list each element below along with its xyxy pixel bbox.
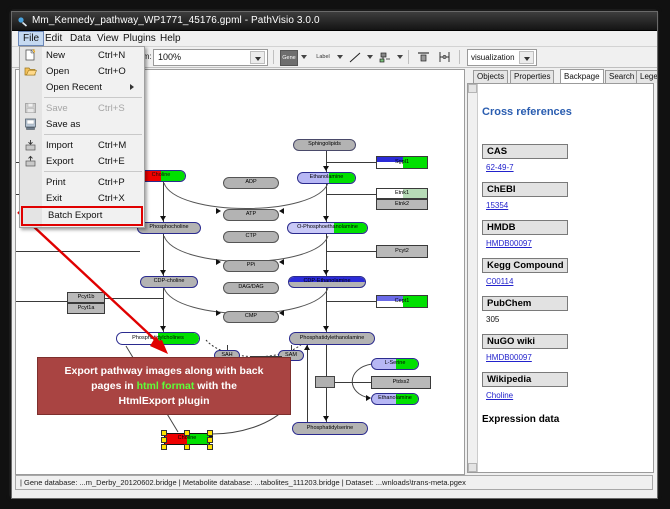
menu-label: Save: [46, 103, 68, 114]
pathway-node[interactable]: L-Serine: [371, 358, 419, 370]
pathway-node[interactable]: CTP: [223, 231, 279, 243]
pathway-node[interactable]: CMP: [223, 311, 279, 323]
edge: [326, 194, 376, 195]
menu-item-save: Save Ctrl+S: [20, 100, 144, 116]
toolbar-separator: [273, 50, 274, 64]
arrow-icon: [216, 208, 221, 214]
pathway-node[interactable]: ATP: [223, 209, 279, 221]
menu-item-open[interactable]: Open Ctrl+O: [20, 63, 144, 79]
folder-open-icon: [24, 65, 37, 77]
receptor-tool[interactable]: [378, 50, 393, 64]
align-top-icon[interactable]: [416, 50, 431, 64]
arrow-icon: [216, 310, 221, 316]
selection-handle[interactable]: [184, 444, 190, 450]
callout-highlight: html format: [137, 380, 195, 392]
gene-node[interactable]: Cept1: [376, 295, 428, 308]
menu-item-save-as[interactable]: Save as: [20, 116, 144, 132]
chevron-right-icon: [130, 84, 134, 90]
pathway-node[interactable]: PPi: [223, 260, 279, 272]
menu-shortcut: Ctrl+S: [98, 103, 125, 114]
edge: [326, 251, 376, 252]
tab-legend[interactable]: Legend: [636, 70, 658, 83]
label-tool[interactable]: Label: [312, 50, 334, 64]
pathway-node[interactable]: CDP-Ethanolamine: [288, 276, 366, 288]
edge: [326, 301, 376, 302]
selection-handle[interactable]: [207, 444, 213, 450]
selection-handle[interactable]: [207, 437, 213, 443]
file-menu-popup[interactable]: New Ctrl+N Open Ctrl+O Open Recent: [19, 46, 145, 228]
menu-item-export[interactable]: Export Ctrl+E: [20, 153, 144, 169]
pathway-node[interactable]: ADP: [223, 177, 279, 189]
gene-node[interactable]: Ptdss2: [371, 376, 431, 389]
tab-search[interactable]: Search: [605, 70, 638, 83]
menu-help[interactable]: Help: [156, 32, 185, 45]
menu-item-new[interactable]: New Ctrl+N: [20, 47, 144, 63]
annotation-text: Export pathway images along with back pa…: [59, 364, 270, 409]
arrow-icon: [216, 259, 221, 265]
chevron-down-icon[interactable]: [301, 55, 307, 59]
scroll-up-button[interactable]: [468, 84, 477, 93]
menu-item-import[interactable]: Import Ctrl+M: [20, 137, 144, 153]
tab-backpage[interactable]: Backpage: [560, 69, 604, 83]
xref-value-cas[interactable]: 62-49-7: [486, 163, 514, 172]
toolbar-separator: [459, 50, 460, 64]
save-disk-icon: [24, 102, 37, 114]
window-title: Mm_Kennedy_pathway_WP1771_45176.gpml - P…: [32, 15, 320, 26]
save-as-icon: [24, 118, 37, 130]
menu-label: Batch Export: [48, 210, 102, 221]
menu-bar: File Edit Data View Plugins Help: [12, 31, 657, 47]
xref-value-hmdb[interactable]: HMDB00097: [486, 239, 532, 248]
menu-label: Open: [46, 66, 69, 77]
menu-data[interactable]: Data: [66, 32, 95, 45]
callout-line2-b: with the: [194, 380, 237, 392]
edge: [326, 162, 376, 163]
arrow-icon: [279, 208, 284, 214]
xref-header-pubchem: PubChem: [482, 296, 568, 311]
scroll-down-button[interactable]: [468, 463, 477, 472]
xref-header-chebi: ChEBI: [482, 182, 568, 197]
zoom-combobox[interactable]: 100%: [153, 49, 268, 66]
edge: [334, 382, 371, 383]
menu-label: Open Recent: [46, 82, 102, 93]
selection-handle[interactable]: [161, 437, 167, 443]
new-document-icon: [24, 49, 37, 61]
chevron-down-icon[interactable]: [367, 55, 373, 59]
menu-label: Export: [46, 156, 73, 167]
pathway-node[interactable]: Phosphatidylserine: [292, 422, 368, 435]
zoom-value: 100%: [158, 52, 181, 62]
line-tool[interactable]: [348, 50, 363, 64]
arrow-icon: [323, 416, 329, 421]
chevron-down-icon: [524, 57, 530, 61]
selection-handle[interactable]: [161, 430, 167, 436]
menu-item-print[interactable]: Print Ctrl+P: [20, 174, 144, 190]
menu-shortcut: Ctrl+P: [98, 177, 125, 188]
menu-item-exit[interactable]: Exit Ctrl+X: [20, 190, 144, 206]
visualization-dropdown-button[interactable]: [519, 51, 534, 64]
gene-node[interactable]: Sgpl1: [376, 156, 428, 169]
menu-item-batch-export[interactable]: Batch Export: [21, 206, 143, 226]
menu-shortcut: Ctrl+E: [98, 156, 125, 167]
expression-data-heading: Expression data: [482, 414, 559, 425]
gene-node[interactable]: Etnk1: [376, 188, 428, 199]
annotation-callout: Export pathway images along with back pa…: [37, 357, 291, 415]
cross-references-title: Cross references: [482, 106, 572, 118]
menu-label: Exit: [46, 193, 62, 204]
pathvisio-window: Mm_Kennedy_pathway_WP1771_45176.gpml - P…: [11, 11, 658, 499]
annotation-arrow: [16, 210, 196, 370]
menu-edit[interactable]: Edit: [41, 32, 66, 45]
visualization-combobox[interactable]: visualization: [467, 49, 537, 66]
xref-value-kegg[interactable]: C00114: [486, 277, 513, 286]
menu-label: New: [46, 50, 65, 61]
chevron-down-icon[interactable]: [397, 55, 403, 59]
xref-value-pubchem: 305: [486, 315, 499, 324]
export-icon: [24, 155, 37, 167]
pathway-node[interactable]: DAG/DAG: [223, 282, 279, 294]
pathway-node[interactable]: O-Phosphoethanolamine: [287, 222, 368, 234]
menu-item-open-recent[interactable]: Open Recent: [20, 79, 144, 95]
menu-shortcut: Ctrl+O: [98, 66, 126, 77]
selection-handle[interactable]: [184, 430, 190, 436]
pathway-node[interactable]: Phosphatidylethanolamine: [289, 332, 375, 345]
status-text: | Gene database: ...m_Derby_20120602.bri…: [20, 478, 466, 487]
backpage-content: Cross references CAS 62-49-7 ChEBI 15354…: [467, 83, 654, 473]
xref-header-kegg: Kegg Compound: [482, 258, 568, 273]
arrow-icon: [323, 166, 329, 171]
selection-handle[interactable]: [161, 444, 167, 450]
gene-node[interactable]: Pcyt2: [376, 245, 428, 258]
pathvisio-icon: [17, 16, 28, 27]
chevron-down-icon: [255, 57, 261, 61]
zoom-dropdown-button[interactable]: [250, 51, 265, 64]
menu-plugins[interactable]: Plugins: [119, 32, 160, 45]
pathway-node[interactable]: Sphingolipids: [293, 139, 356, 151]
xref-value-nugo[interactable]: HMDB00097: [486, 353, 532, 362]
menu-separator: [44, 97, 142, 98]
toolbar-separator: [408, 50, 409, 64]
menu-label: Import: [46, 140, 73, 151]
callout-line3: HtmlExport plugin: [119, 395, 210, 407]
menu-separator: [44, 171, 142, 172]
import-icon: [24, 139, 37, 151]
menu-label: Print: [46, 177, 66, 188]
status-bar: | Gene database: ...m_Derby_20120602.bri…: [15, 475, 653, 490]
xref-header-nugo: NuGO wiki: [482, 334, 568, 349]
menu-separator: [44, 134, 142, 135]
backpage-scrollbar[interactable]: [468, 84, 478, 472]
gene-product-tool[interactable]: Gene: [280, 50, 298, 66]
menu-shortcut: Ctrl+X: [98, 193, 125, 204]
visualization-value: visualization: [471, 53, 515, 62]
callout-line2-a: pages in: [91, 380, 137, 392]
menu-shortcut: Ctrl+M: [98, 140, 126, 151]
menu-shortcut: Ctrl+N: [98, 50, 125, 61]
panel-tabs: Objects Properties Backpage Search Legen…: [467, 69, 654, 83]
arrow-icon: [279, 310, 284, 316]
arrow-icon: [279, 259, 284, 265]
callout-line1: Export pathway images along with back: [65, 365, 264, 377]
right-panel: Objects Properties Backpage Search Legen…: [467, 69, 654, 473]
tab-properties[interactable]: Properties: [510, 70, 554, 83]
tab-objects[interactable]: Objects: [473, 70, 508, 83]
xref-header-cas: CAS: [482, 144, 568, 159]
xref-header-wikipedia: Wikipedia: [482, 372, 568, 387]
selection-handle[interactable]: [207, 430, 213, 436]
xref-value-wikipedia[interactable]: Choline: [486, 391, 513, 400]
xref-header-hmdb: HMDB: [482, 220, 568, 235]
menu-label: Save as: [46, 119, 80, 130]
pathway-node[interactable]: Ethanolamine: [297, 172, 356, 184]
gene-node[interactable]: Etnk2: [376, 199, 428, 210]
title-bar: Mm_Kennedy_pathway_WP1771_45176.gpml - P…: [12, 12, 657, 31]
screenshot-root: Mm_Kennedy_pathway_WP1771_45176.gpml - P…: [0, 0, 670, 509]
distribute-horizontal-icon[interactable]: [437, 50, 452, 64]
xref-value-chebi[interactable]: 15354: [486, 201, 508, 210]
chevron-down-icon[interactable]: [337, 55, 343, 59]
pathway-node[interactable]: Ethanolamine: [371, 393, 419, 405]
interaction-anchor: [315, 376, 335, 388]
